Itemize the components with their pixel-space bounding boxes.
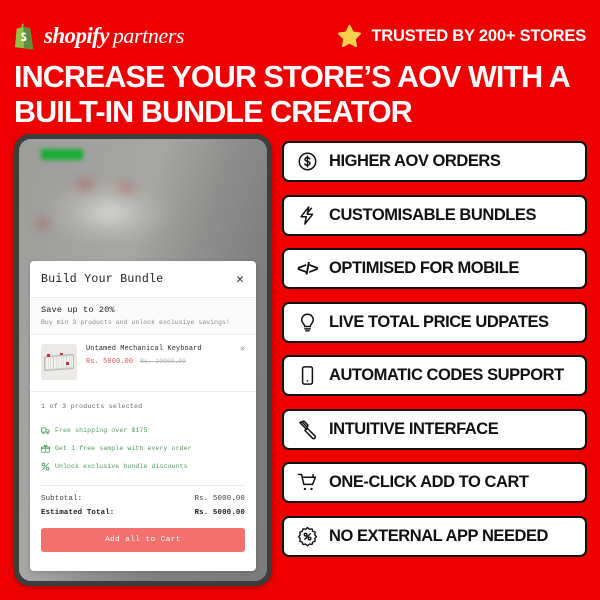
feature-pill-no-external-app-needed[interactable]: NO EXTERNAL APP NEEDED: [282, 516, 587, 557]
selected-count-label: 1 of 3 products selected: [30, 392, 256, 414]
trusted-badge: TRUSTED BY 200+ STORES: [337, 24, 586, 49]
gift-icon: [41, 444, 50, 453]
feature-label: ONE-CLICK ADD TO CART: [329, 473, 529, 492]
perk-item: Unlock exclusive bundle discounts: [41, 462, 245, 471]
shopify-partners-logo: shopify partners: [14, 23, 184, 50]
feature-label: INTUITIVE INTERFACE: [329, 420, 498, 439]
estimated-total-label: Estimated Total:: [41, 509, 114, 517]
code-brackets-icon: </>: [296, 258, 318, 280]
subtotal-label: Subtotal:: [41, 495, 82, 503]
promo-title: Save up to 20%: [41, 305, 245, 315]
star-icon: [337, 24, 362, 49]
feature-label: LIVE TOTAL PRICE UDPATES: [329, 313, 549, 332]
lightning-bolt-icon: [296, 204, 318, 226]
feature-pill-higher-aov-orders[interactable]: HIGHER AOV ORDERS: [282, 141, 587, 182]
bundle-title: Build Your Bundle: [41, 273, 163, 286]
estimated-total-value: Rs. 5000.00: [195, 509, 245, 517]
promo-subtitle: Buy min 3 products and unlock exclusive …: [41, 319, 245, 326]
feature-label: OPTIMISED FOR MOBILE: [329, 259, 519, 278]
feature-pill-automatic-codes-support[interactable]: AUTOMATIC CODES SUPPORT: [282, 355, 587, 396]
bundle-header: Build Your Bundle ✕: [30, 261, 256, 298]
estimated-total-row: Estimated Total: Rs. 5000.00: [41, 509, 245, 517]
perk-label: Get 1 free sample with every order: [55, 445, 192, 452]
truck-icon: [41, 426, 50, 435]
percent-icon: [41, 462, 50, 471]
brand-name-secondary: partners: [113, 23, 184, 49]
product-price-original: Rs. 10000.00: [140, 358, 186, 365]
phone-screen: Build Your Bundle ✕ Save up to 20% Buy m…: [19, 139, 267, 581]
feature-label: HIGHER AOV ORDERS: [329, 152, 500, 171]
subtotal-value: Rs. 5000.00: [195, 495, 245, 503]
feature-list: HIGHER AOV ORDERS CUSTOMISABLE BUNDLES <…: [282, 141, 587, 557]
perk-item: Get 1 free sample with every order: [41, 444, 245, 453]
shopify-bag-icon: [14, 23, 37, 50]
subtotal-row: Subtotal: Rs. 5000.00: [41, 495, 245, 503]
perks-list: Free shipping over $175 Get 1 free sampl…: [30, 414, 256, 473]
totals-section: Subtotal: Rs. 5000.00 Estimated Total: R…: [30, 486, 256, 523]
feature-label: AUTOMATIC CODES SUPPORT: [329, 366, 564, 385]
promo-banner: Save up to 20% Buy min 3 products and un…: [30, 298, 256, 335]
phone-mockup: Build Your Bundle ✕ Save up to 20% Buy m…: [14, 134, 272, 586]
feature-pill-optimised-for-mobile[interactable]: </> OPTIMISED FOR MOBILE: [282, 248, 587, 289]
top-bar: shopify partners TRUSTED BY 200+ STORES: [14, 18, 586, 54]
add-all-to-cart-button[interactable]: Add all to Cart: [41, 528, 245, 552]
feature-label: NO EXTERNAL APP NEEDED: [329, 527, 548, 546]
feature-pill-live-total-price-updates[interactable]: LIVE TOTAL PRICE UDPATES: [282, 302, 587, 343]
perk-label: Free shipping over $175: [55, 427, 147, 434]
bundle-product-row: Untamed Mechanical Keyboard Rs. 5000.00 …: [30, 335, 256, 392]
product-price-current: Rs. 5000.00: [86, 358, 133, 366]
perk-label: Unlock exclusive bundle discounts: [55, 463, 188, 470]
feature-label: CUSTOMISABLE BUNDLES: [329, 206, 536, 225]
feature-pill-intuitive-interface[interactable]: INTUITIVE INTERFACE: [282, 409, 587, 450]
dollar-circle-icon: [296, 151, 318, 173]
paint-brush-icon: [296, 418, 318, 440]
feature-pill-customisable-bundles[interactable]: CUSTOMISABLE BUNDLES: [282, 195, 587, 236]
lightbulb-icon: [296, 311, 318, 333]
trusted-label: TRUSTED BY 200+ STORES: [371, 27, 586, 46]
percent-badge-icon: [296, 525, 318, 547]
build-your-bundle-card: Build Your Bundle ✕ Save up to 20% Buy m…: [30, 261, 256, 571]
page-title: INCREASE YOUR STORE’S AOV WITH A BUILT-I…: [14, 60, 588, 130]
feature-pill-one-click-add-to-cart[interactable]: ONE-CLICK ADD TO CART: [282, 462, 587, 503]
brand-name-primary: shopify: [44, 23, 109, 49]
sale-badge: [41, 149, 83, 160]
keyboard-thumbnail-icon: [41, 344, 77, 380]
product-name: Untamed Mechanical Keyboard: [86, 345, 231, 353]
mobile-phone-icon: [296, 365, 318, 387]
perk-item: Free shipping over $175: [41, 426, 245, 435]
close-icon[interactable]: ✕: [235, 273, 245, 286]
remove-product-icon[interactable]: ✕: [240, 344, 245, 354]
shopping-cart-icon: [296, 472, 318, 494]
